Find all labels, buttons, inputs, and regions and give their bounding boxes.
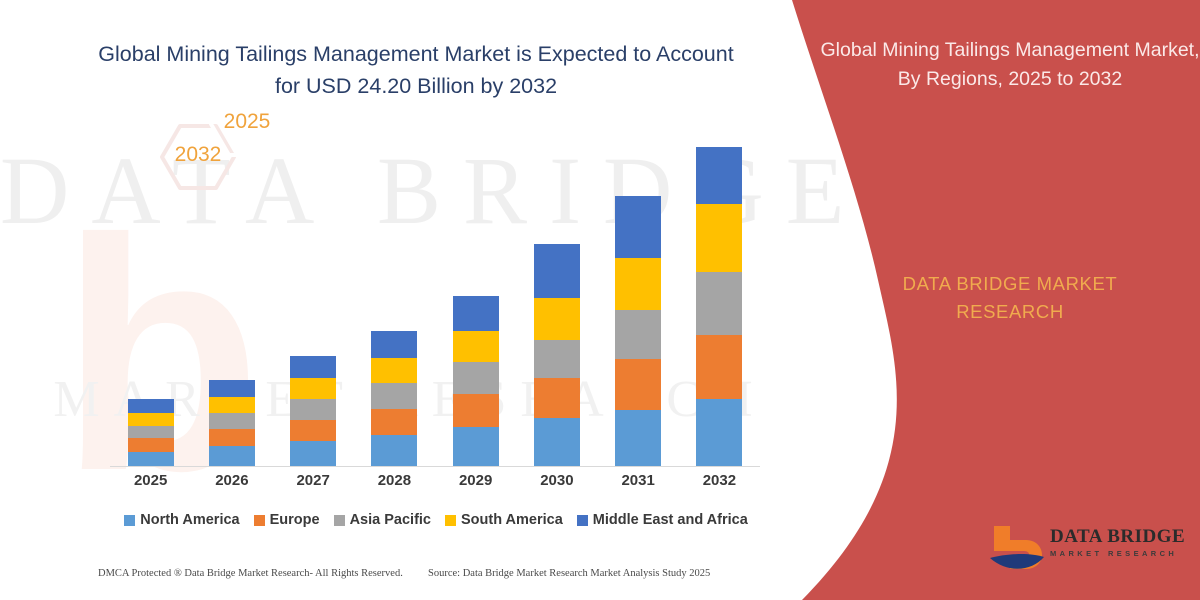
bar-2028: [371, 331, 417, 466]
dbmr-logo-mark-icon: [988, 524, 1046, 576]
legend-item-north-america[interactable]: North America: [124, 512, 239, 528]
x-label-2027: 2027: [281, 472, 345, 489]
infographic-canvas: b DATA BRIDGE MARKET RESEARCH Global Min…: [0, 0, 1200, 600]
dbmr-logo-main: DATA BRIDGE: [1050, 526, 1185, 548]
bar-segment-north-america: [696, 399, 742, 466]
bar-segment-south-america: [209, 397, 255, 413]
footer: DMCA Protected ® Data Bridge Market Rese…: [0, 568, 790, 590]
bar-segment-south-america: [534, 298, 580, 339]
bar-segment-north-america: [615, 410, 661, 466]
bar-segment-asia-pacific: [615, 310, 661, 359]
chart-plot-area: [96, 140, 776, 466]
bar-segment-middle-east-and-africa: [290, 356, 336, 378]
bar-segment-asia-pacific: [128, 426, 174, 439]
x-label-2030: 2030: [525, 472, 589, 489]
panel-brand: DATA BRIDGE MARKET RESEARCH: [820, 270, 1200, 326]
bar-segment-asia-pacific: [371, 383, 417, 409]
bar-segment-south-america: [290, 378, 336, 399]
footer-source: Source: Data Bridge Market Research Mark…: [428, 568, 710, 579]
bar-segment-middle-east-and-africa: [209, 380, 255, 397]
bar-segment-europe: [534, 378, 580, 418]
bar-segment-europe: [453, 394, 499, 427]
x-label-2026: 2026: [200, 472, 264, 489]
bar-2032: [696, 147, 742, 466]
bar-segment-middle-east-and-africa: [371, 331, 417, 359]
legend-swatch-icon: [445, 515, 456, 526]
bar-segment-asia-pacific: [290, 399, 336, 420]
dbmr-logo-text: DATA BRIDGE MARKET RESEARCH: [1050, 526, 1185, 560]
bar-segment-europe: [696, 335, 742, 399]
legend-label: South America: [461, 512, 563, 528]
bar-segment-middle-east-and-africa: [128, 399, 174, 413]
bar-segment-europe: [128, 438, 174, 452]
x-label-2031: 2031: [606, 472, 670, 489]
legend-swatch-icon: [124, 515, 135, 526]
bar-2025: [128, 399, 174, 466]
footer-copyright: DMCA Protected ® Data Bridge Market Rese…: [98, 568, 403, 579]
x-axis-labels: 20252026202720282029203020312032: [96, 472, 776, 498]
legend-item-south-america[interactable]: South America: [445, 512, 563, 528]
bar-segment-middle-east-and-africa: [453, 296, 499, 331]
x-label-2032: 2032: [687, 472, 751, 489]
bar-segment-asia-pacific: [534, 340, 580, 379]
bar-segment-south-america: [128, 413, 174, 426]
panel-brand-line1: DATA BRIDGE MARKET: [820, 270, 1200, 298]
bar-2031: [615, 196, 661, 466]
x-label-2028: 2028: [362, 472, 426, 489]
panel-brand-line2: RESEARCH: [820, 298, 1200, 326]
bar-segment-south-america: [696, 204, 742, 272]
chart-legend: North AmericaEuropeAsia PacificSouth Ame…: [96, 512, 776, 528]
bar-segment-north-america: [371, 435, 417, 466]
legend-item-middle-east-and-africa[interactable]: Middle East and Africa: [577, 512, 748, 528]
bar-2030: [534, 244, 580, 466]
legend-item-europe[interactable]: Europe: [254, 512, 320, 528]
x-label-2029: 2029: [444, 472, 508, 489]
bar-segment-south-america: [615, 258, 661, 310]
legend-swatch-icon: [334, 515, 345, 526]
panel-title: Global Mining Tailings Management Market…: [820, 36, 1200, 94]
bar-2029: [453, 296, 499, 466]
bar-segment-middle-east-and-africa: [696, 147, 742, 204]
legend-label: Europe: [270, 512, 320, 528]
legend-swatch-icon: [254, 515, 265, 526]
hexagon-label-2025: 2025: [199, 110, 295, 134]
bar-segment-north-america: [290, 441, 336, 466]
bar-segment-asia-pacific: [696, 272, 742, 334]
bar-segment-middle-east-and-africa: [534, 244, 580, 298]
legend-item-asia-pacific[interactable]: Asia Pacific: [334, 512, 431, 528]
bar-segment-north-america: [209, 446, 255, 466]
dbmr-logo-sub: MARKET RESEARCH: [1050, 548, 1185, 560]
bar-segment-asia-pacific: [453, 362, 499, 394]
bar-segment-south-america: [371, 358, 417, 383]
dbmr-logo: DATA BRIDGE MARKET RESEARCH: [988, 522, 1188, 578]
bar-segment-europe: [371, 409, 417, 436]
x-axis-line: [110, 466, 760, 467]
bar-segment-asia-pacific: [209, 413, 255, 430]
bar-2027: [290, 356, 336, 466]
bar-segment-north-america: [128, 452, 174, 466]
bar-segment-europe: [209, 429, 255, 446]
bar-segment-south-america: [453, 331, 499, 363]
stacked-bar-chart: 20252026202720282029203020312032: [96, 140, 776, 470]
bar-segment-middle-east-and-africa: [615, 196, 661, 257]
bar-2026: [209, 380, 255, 466]
bar-segment-europe: [615, 359, 661, 409]
legend-label: Middle East and Africa: [593, 512, 748, 528]
legend-label: Asia Pacific: [350, 512, 431, 528]
bar-segment-europe: [290, 420, 336, 442]
bar-segment-north-america: [453, 427, 499, 467]
x-label-2025: 2025: [119, 472, 183, 489]
legend-swatch-icon: [577, 515, 588, 526]
page-title: Global Mining Tailings Management Market…: [96, 38, 736, 102]
bar-segment-north-america: [534, 418, 580, 466]
legend-label: North America: [140, 512, 239, 528]
